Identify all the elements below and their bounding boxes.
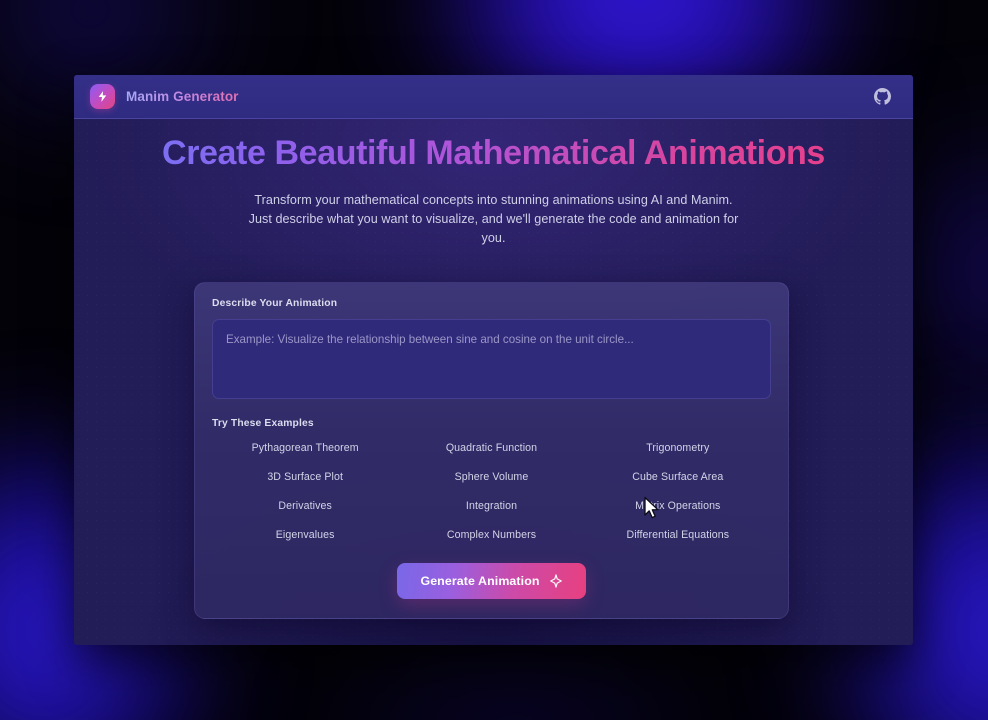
example-button-integration[interactable]: Integration	[398, 491, 584, 520]
example-button-matrix-operations[interactable]: Matrix Operations	[585, 491, 771, 520]
generate-row: Generate Animation	[212, 563, 771, 599]
page-content: Create Beautiful Mathematical Animations…	[74, 119, 913, 645]
generate-animation-button[interactable]: Generate Animation	[397, 563, 585, 599]
example-button-differential-equations[interactable]: Differential Equations	[585, 520, 771, 549]
app-header: Manim Generator	[74, 75, 913, 119]
hero-section: Create Beautiful Mathematical Animations…	[74, 119, 913, 248]
page-title: Create Beautiful Mathematical Animations	[74, 133, 913, 173]
examples-grid: Pythagorean Theorem Quadratic Function T…	[212, 433, 771, 549]
background-glow-bottom	[300, 640, 730, 720]
example-button-trigonometry[interactable]: Trigonometry	[585, 433, 771, 462]
brand-title: Manim Generator	[126, 89, 239, 104]
example-button-complex-numbers[interactable]: Complex Numbers	[398, 520, 584, 549]
prompt-label: Describe Your Animation	[212, 298, 771, 309]
desktop-background: Manim Generator Create Beautiful Mathema…	[0, 0, 988, 720]
browser-window: Manim Generator Create Beautiful Mathema…	[74, 75, 913, 645]
example-button-quadratic-function[interactable]: Quadratic Function	[398, 433, 584, 462]
example-button-cube-surface-area[interactable]: Cube Surface Area	[585, 462, 771, 491]
example-button-derivatives[interactable]: Derivatives	[212, 491, 398, 520]
github-icon[interactable]	[874, 88, 891, 105]
example-button-eigenvalues[interactable]: Eigenvalues	[212, 520, 398, 549]
generator-card: Describe Your Animation Try These Exampl…	[194, 282, 789, 619]
example-button-3d-surface-plot[interactable]: 3D Surface Plot	[212, 462, 398, 491]
lightning-bolt-icon	[90, 84, 115, 109]
sparkle-icon	[549, 574, 563, 588]
generate-button-label: Generate Animation	[420, 574, 539, 588]
prompt-input[interactable]	[212, 319, 771, 399]
example-button-pythagorean-theorem[interactable]: Pythagorean Theorem	[212, 433, 398, 462]
examples-label: Try These Examples	[212, 418, 771, 429]
hero-subtitle: Transform your mathematical concepts int…	[246, 191, 741, 248]
example-button-sphere-volume[interactable]: Sphere Volume	[398, 462, 584, 491]
